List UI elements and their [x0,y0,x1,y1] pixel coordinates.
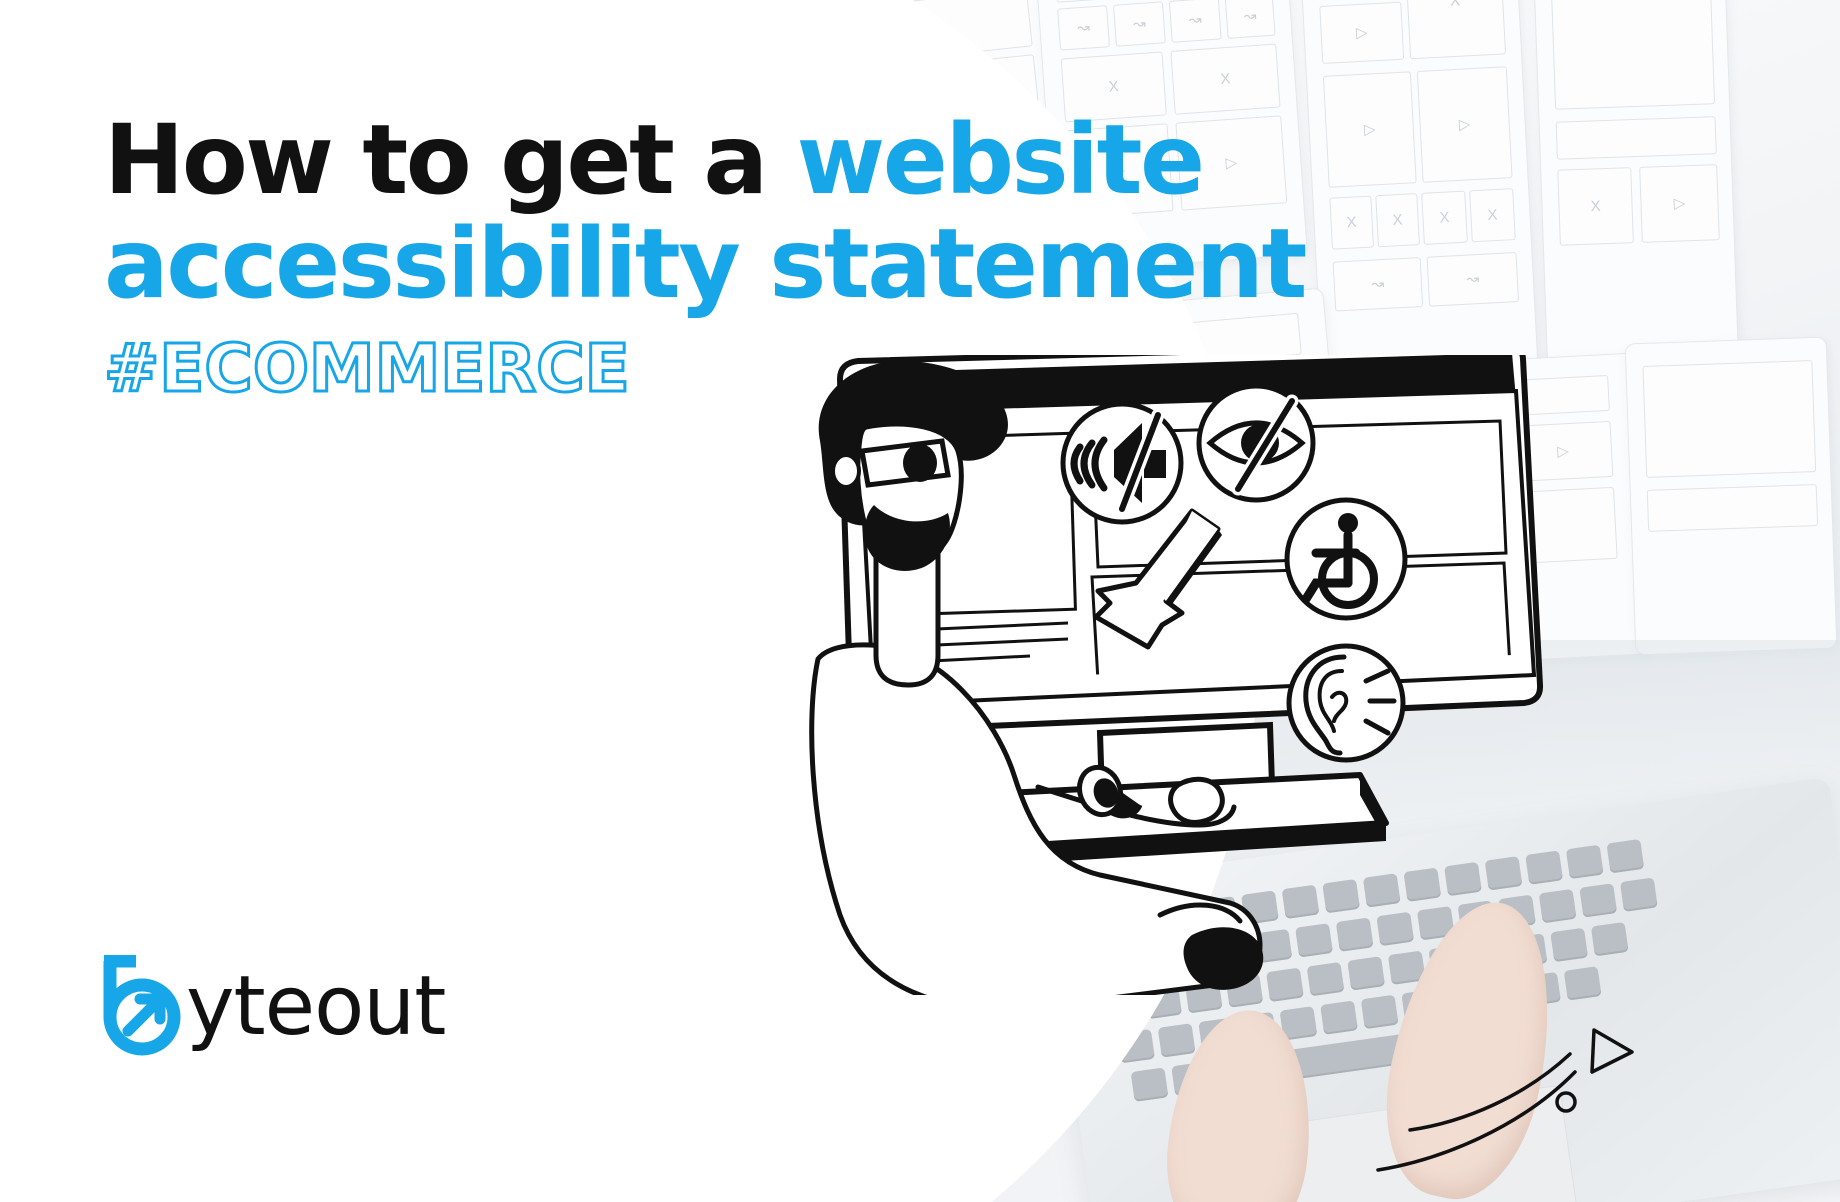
headline-line-1-blue: website [797,104,1203,216]
speaker-muted-icon [1063,404,1181,522]
headline-line-1: How to get a website [104,108,1284,212]
swoosh-arrow-icon [1370,1010,1650,1180]
poster-canvas: X ▷ ↝ ↝ ↝ ↝ X X ▷ ▷ ▷ X ▷ ▷ ▷ X X X X ↝ … [0,0,1840,1202]
headline-block: How to get a website accessibility state… [104,108,1284,404]
ear-icon [1289,646,1403,760]
wireframe-paper-sheet: X ▷ [1533,0,1739,365]
accessibility-monitor-illustration [800,355,1560,995]
byteout-logo[interactable]: yteout [96,955,445,1059]
wireframe-paper-sheet: ▷ X ▷ ▷ ▷ X X X X ↝ ↝ [1299,0,1539,377]
wheelchair-icon [1287,500,1405,618]
byteout-b-arrow-mark [96,955,192,1059]
hashtag-ecommerce: #ECOMMERCE [104,334,1284,404]
byteout-wordmark: yteout [186,966,445,1048]
headline-line-1-black: How to get a [104,104,797,216]
wireframe-paper-sheet [1625,337,1838,656]
headline-line-2: accessibility statement [104,212,1284,316]
